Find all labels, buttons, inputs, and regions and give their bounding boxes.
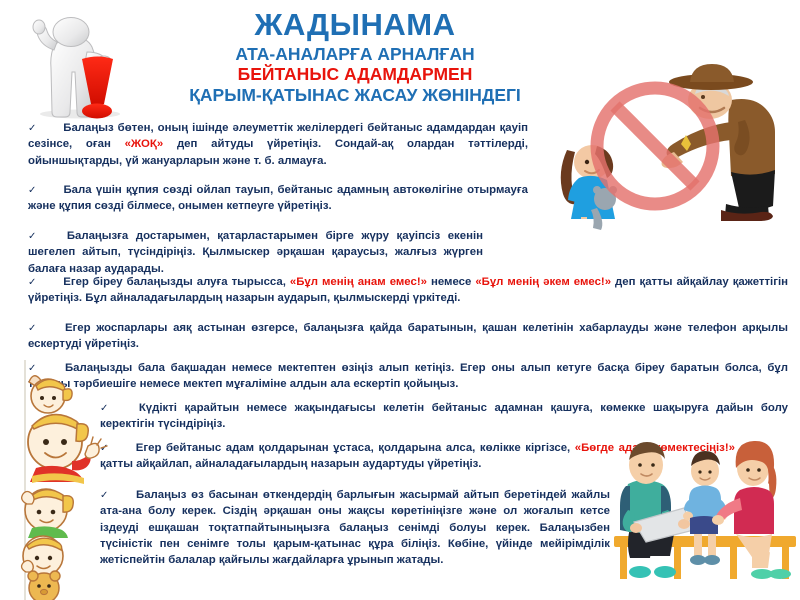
boy-figure: [683, 451, 727, 565]
paragraph-9: ✓Балаңыз өз басынан өткендердің барлығын…: [100, 487, 610, 568]
p1-run-2-emphasis: «ЖОҚ»: [125, 138, 164, 150]
p4-run-1: Егер біреу балаңызды алуға тырысса,: [63, 276, 290, 288]
children-peeking-illustration: [0, 360, 114, 600]
poster-page: ЖАДЫНАМА АТА-АНАЛАРҒА АРНАЛҒАН БЕЙТАНЫС …: [0, 0, 800, 600]
paragraph-5: ✓Егер жоспарлары аяқ астынан өзгерсе, ба…: [28, 320, 788, 353]
p4-run-3: немесе: [427, 276, 475, 288]
paragraph-2: ✓Бала үшін құпия сөзді ойлап тауып, бейт…: [28, 182, 528, 215]
p2-run-1: Бала үшін құпия сөзді ойлап тауып, бейта…: [28, 184, 528, 212]
p4-run-2-emphasis: «Бұл менің анам емес!»: [290, 276, 427, 288]
paragraph-4: ✓Егер біреу балаңызды алуға тырысса, «Бұ…: [28, 274, 788, 307]
paragraph-1: ✓Балаңыз бөтен, оның ішінде әлеуметтік ж…: [28, 120, 528, 169]
bullet-check-icon-3: ✓: [28, 231, 41, 242]
teddy-bear-icon: [28, 571, 60, 600]
bullet-check-icon-4: ✓: [28, 277, 37, 288]
mother-figure: [712, 441, 791, 579]
p9-run-1: Балаңыз өз басынан өткендердің барлығын …: [100, 489, 610, 566]
bullet-check-icon-2: ✓: [28, 185, 38, 196]
p6-run-1: Балаңызды бала бақшадан немесе мектептен…: [28, 362, 788, 390]
p5-run-1: Егер жоспарлары аяқ астынан өзгерсе, бал…: [28, 322, 788, 350]
family-on-bench-illustration: [612, 432, 800, 600]
paragraph-3: ✓Балаңызға достарымен, қатарластарымен б…: [28, 228, 483, 277]
paragraph-6: ✓Балаңызды бала бақшадан немесе мектепте…: [28, 360, 788, 393]
bullet-check-icon-1: ✓: [28, 123, 37, 134]
p3-run-1: Балаңызға достарымен, қатарластарымен бі…: [28, 230, 483, 275]
p7-run-1: Күдікті қарайтын немесе жақындағысы келе…: [100, 402, 788, 430]
p4-run-4-emphasis: «Бұл менің әкем емес!»: [475, 276, 611, 288]
paragraph-7: ✓Күдікті қарайтын немесе жақындағысы кел…: [100, 400, 788, 433]
p8-run-1: Егер бейтаныс адам қолдарынан ұстаса, қо…: [136, 442, 575, 454]
father-figure: [620, 442, 694, 578]
bullet-check-icon-5: ✓: [28, 323, 39, 334]
